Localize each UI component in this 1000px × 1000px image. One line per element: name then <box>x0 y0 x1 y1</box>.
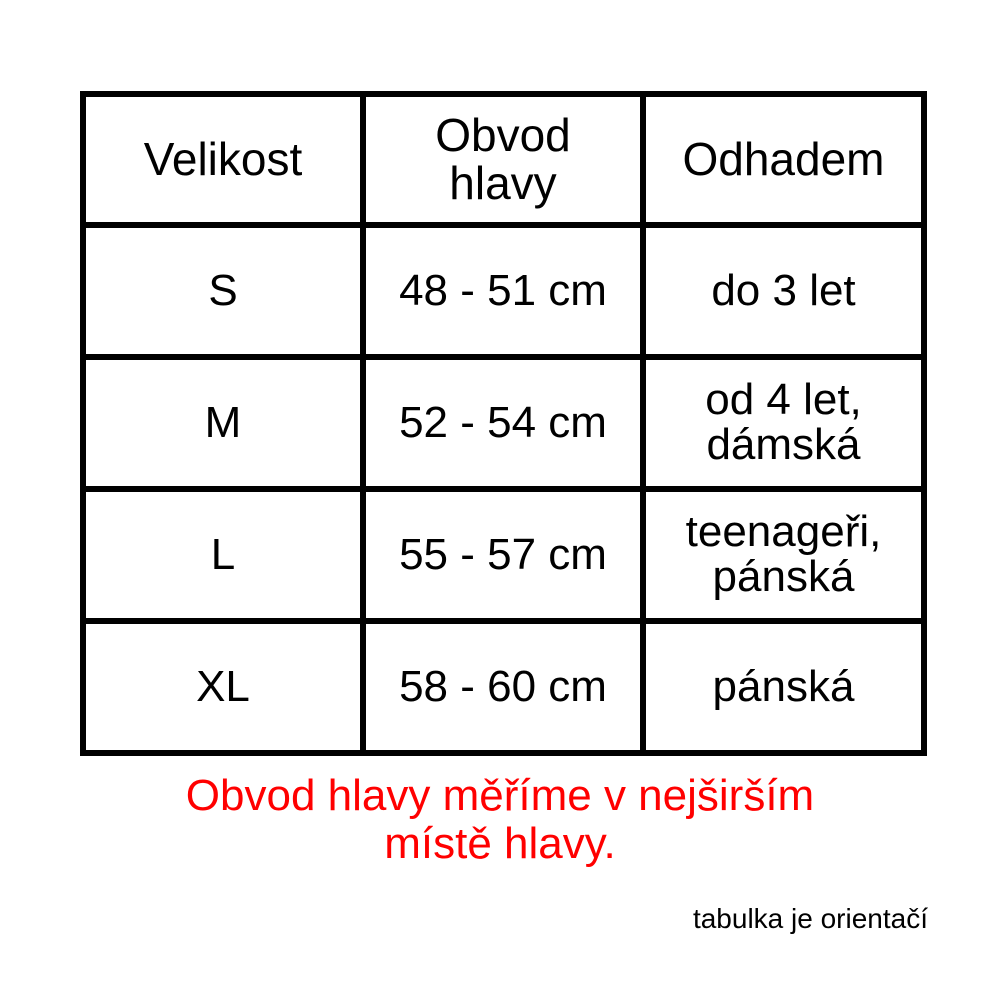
column-header-estimate-line-1: Odhadem <box>652 136 915 183</box>
cell-circumference: 48 - 51 cm <box>363 225 643 357</box>
measurement-note-line-1: Obvod hlavy měříme v nejširším <box>0 772 1000 820</box>
table-header: Velikost Obvod hlavy Odhadem <box>83 94 924 225</box>
table-body: S 48 - 51 cm do 3 let M <box>83 225 924 753</box>
cell-circumference-lines: 58 - 60 cm <box>372 665 634 710</box>
column-header-estimate: Odhadem <box>643 94 924 225</box>
cell-size-line-1: XL <box>92 665 354 710</box>
measurement-note: Obvod hlavy měříme v nejširším místě hla… <box>0 772 1000 867</box>
measurement-note-line-2: místě hlavy. <box>0 820 1000 868</box>
column-header-estimate-lines: Odhadem <box>652 136 915 183</box>
cell-size: XL <box>83 621 363 753</box>
cell-size-lines: M <box>92 401 354 446</box>
cell-size-line-1: S <box>92 269 354 314</box>
table-disclaimer: tabulka je orientačí <box>693 904 928 935</box>
table-header-row: Velikost Obvod hlavy Odhadem <box>83 94 924 225</box>
cell-size: M <box>83 357 363 489</box>
cell-size-line-1: M <box>92 401 354 446</box>
cell-size-lines: L <box>92 533 354 578</box>
column-header-circumference-line-2: hlavy <box>372 160 634 207</box>
cell-size: L <box>83 489 363 621</box>
cell-circumference-line-1: 55 - 57 cm <box>372 533 634 578</box>
cell-size: S <box>83 225 363 357</box>
cell-circumference: 52 - 54 cm <box>363 357 643 489</box>
cell-circumference-lines: 48 - 51 cm <box>372 269 634 314</box>
column-header-size: Velikost <box>83 94 363 225</box>
size-chart-table: Velikost Obvod hlavy Odhadem <box>80 91 927 756</box>
cell-estimate: teenageři, pánská <box>643 489 924 621</box>
table-row: M 52 - 54 cm od 4 let, dámská <box>83 357 924 489</box>
size-chart-page: Velikost Obvod hlavy Odhadem <box>0 0 1000 1000</box>
cell-estimate: pánská <box>643 621 924 753</box>
table-row: XL 58 - 60 cm pánská <box>83 621 924 753</box>
column-header-circumference: Obvod hlavy <box>363 94 643 225</box>
cell-estimate-lines: od 4 let, dámská <box>652 378 915 468</box>
cell-circumference-lines: 52 - 54 cm <box>372 401 634 446</box>
column-header-circumference-line-1: Obvod <box>372 112 634 159</box>
cell-estimate-line-2: dámská <box>652 423 915 468</box>
cell-estimate-line-1: od 4 let, <box>652 378 915 423</box>
cell-circumference: 55 - 57 cm <box>363 489 643 621</box>
cell-estimate-line-2: pánská <box>652 555 915 600</box>
cell-size-line-1: L <box>92 533 354 578</box>
cell-size-lines: S <box>92 269 354 314</box>
cell-estimate-lines: do 3 let <box>652 269 915 314</box>
column-header-circumference-lines: Obvod hlavy <box>372 112 634 207</box>
cell-circumference-line-1: 58 - 60 cm <box>372 665 634 710</box>
column-header-size-line-1: Velikost <box>92 136 354 183</box>
table-row: S 48 - 51 cm do 3 let <box>83 225 924 357</box>
cell-circumference: 58 - 60 cm <box>363 621 643 753</box>
table-row: L 55 - 57 cm teenageři, pánská <box>83 489 924 621</box>
cell-estimate-lines: teenageři, pánská <box>652 510 915 600</box>
cell-estimate: od 4 let, dámská <box>643 357 924 489</box>
cell-circumference-lines: 55 - 57 cm <box>372 533 634 578</box>
cell-estimate-line-1: teenageři, <box>652 510 915 555</box>
cell-circumference-line-1: 52 - 54 cm <box>372 401 634 446</box>
cell-circumference-line-1: 48 - 51 cm <box>372 269 634 314</box>
cell-estimate-lines: pánská <box>652 665 915 710</box>
cell-estimate-line-1: do 3 let <box>652 269 915 314</box>
cell-size-lines: XL <box>92 665 354 710</box>
column-header-size-lines: Velikost <box>92 136 354 183</box>
cell-estimate: do 3 let <box>643 225 924 357</box>
cell-estimate-line-1: pánská <box>652 665 915 710</box>
